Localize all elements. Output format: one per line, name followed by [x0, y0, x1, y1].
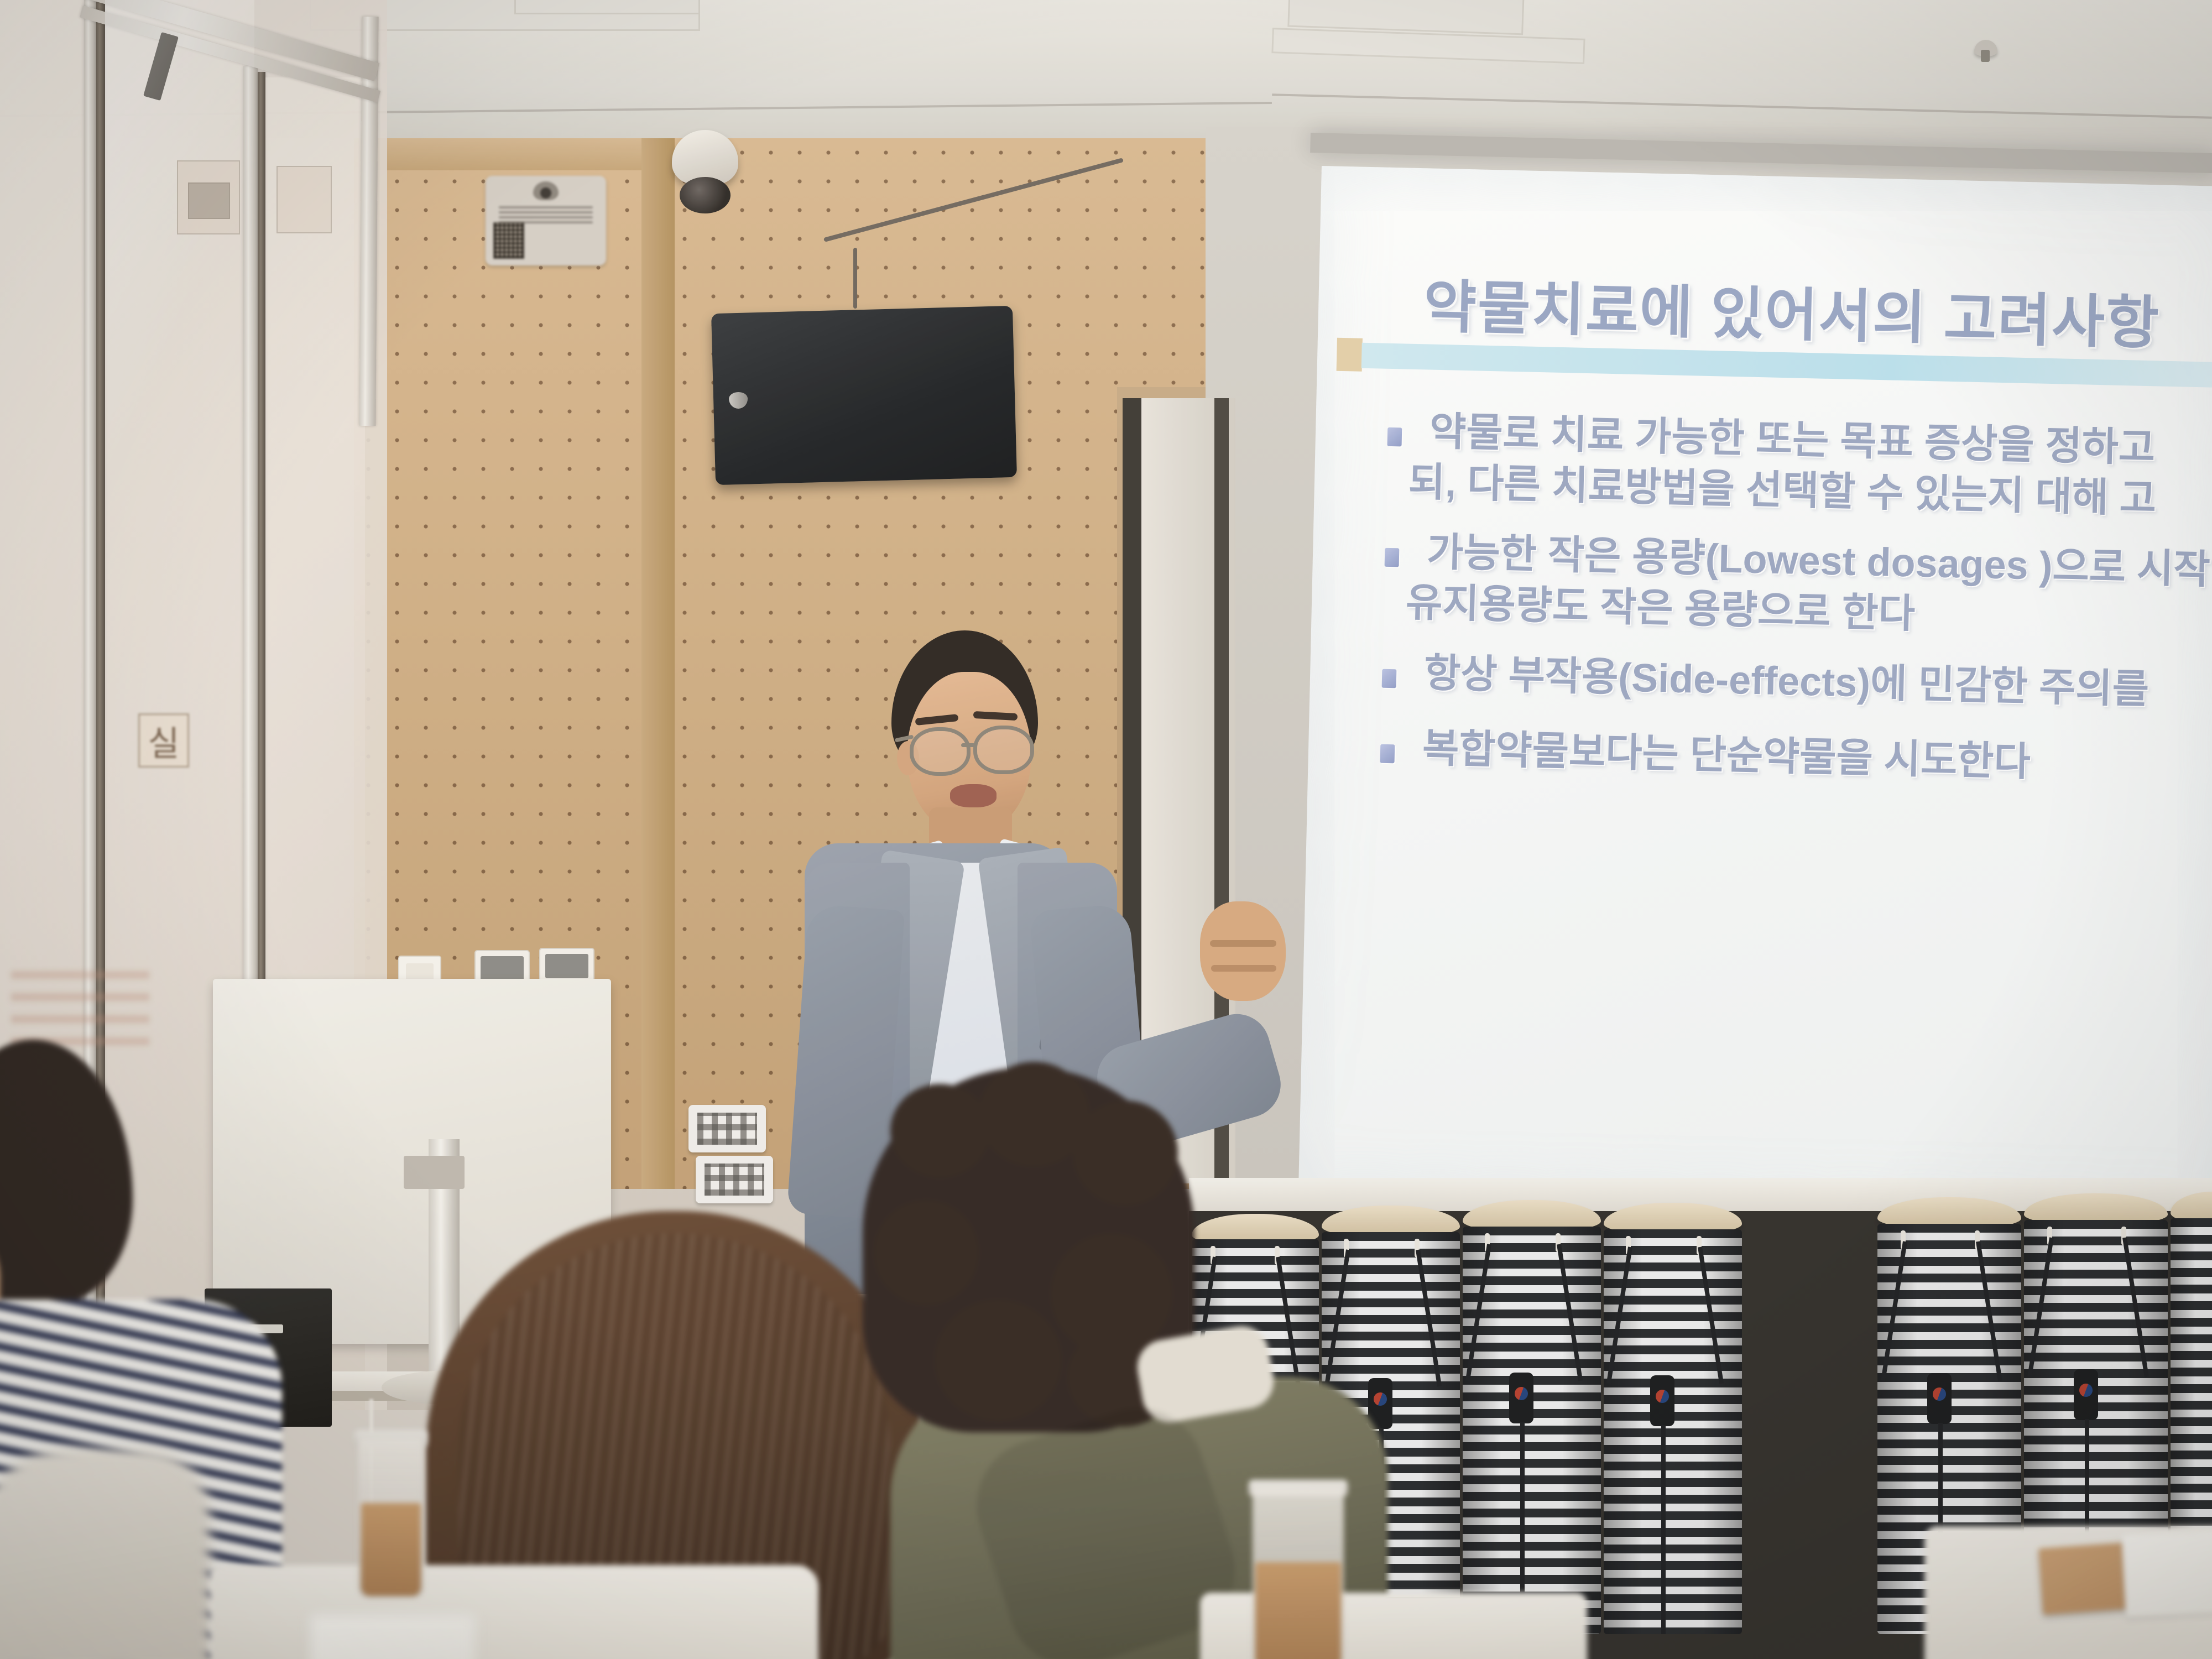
- presenter-right-fist: [1200, 901, 1286, 1001]
- ceiling-panel: [514, 0, 700, 14]
- paper-document: [310, 1615, 476, 1659]
- cup-liquid: [1255, 1562, 1341, 1659]
- basket-vent-holes: [705, 1164, 764, 1196]
- cctv-sign-qr: [493, 222, 524, 259]
- korean-drum: [1463, 1200, 1601, 1634]
- drum-tensioner: [1650, 1375, 1674, 1426]
- front-table: [210, 1565, 818, 1659]
- drum-rope: [1661, 1425, 1666, 1634]
- slide-title: 약물치료에 있어서의 고려사항: [1423, 259, 2161, 359]
- drum-tensioner: [1368, 1378, 1392, 1429]
- bullet-3-line-1: 항상 부작용(Side-effects)에 민감한 주의를: [1381, 646, 2212, 717]
- iced-coffee-cup: [358, 1438, 424, 1598]
- slide-bullet-4: 복합약물보다는 단순약물을 시도한다: [1380, 722, 2212, 792]
- glass-reflection: [105, 0, 254, 498]
- wall-speaker: [711, 306, 1017, 485]
- cctv-notice-sign: [486, 176, 606, 265]
- presenter-glasses-lens: [973, 726, 1034, 774]
- bullet-4-line-1: 복합약물보다는 단순약물을 시도한다: [1380, 722, 2212, 792]
- presenter-mouth: [950, 784, 997, 807]
- monitor-ports: [404, 1156, 465, 1189]
- slide-title-accent-tab: [1337, 338, 1363, 372]
- audience-hair: [0, 1040, 133, 1305]
- presenter-glasses-lens: [910, 727, 971, 776]
- drum-tensioner: [1927, 1373, 1952, 1424]
- paper-document: [2121, 1529, 2212, 1618]
- cctv-camera-lens: [680, 177, 731, 213]
- cup-liquid: [361, 1503, 421, 1596]
- glass-reflection: [11, 957, 149, 1045]
- bullet-marker-icon: [1380, 744, 1395, 763]
- presenter-knuckle-line: [1211, 965, 1276, 972]
- bullet-marker-icon: [1387, 427, 1402, 447]
- slide-bullet-3: 항상 부작용(Side-effects)에 민감한 주의를: [1381, 646, 2212, 717]
- storage-basket: [696, 1156, 773, 1203]
- wood-trim: [641, 138, 675, 1189]
- drum-tensioner: [2074, 1369, 2098, 1420]
- slide-bullet-2: 가능한 작은 용량(Lowest dosages )으로 시작 유지용량도 작은…: [1383, 526, 2212, 648]
- slide-bullet-1: 약물로 치료 가능한 또는 목표 증상을 정하고 되, 다른 치료방법을 선택할…: [1386, 405, 2212, 528]
- bullet-marker-icon: [1382, 669, 1397, 688]
- wood-trim: [354, 138, 669, 170]
- storage-basket: [688, 1105, 766, 1152]
- drum-tensioner: [1509, 1373, 1533, 1423]
- speaker-cable: [853, 248, 857, 309]
- presenter-glasses-bridge: [961, 743, 975, 747]
- basket-vent-holes: [697, 1113, 757, 1145]
- projection-screen: 약물치료에 있어서의 고려사항 약물로 치료 가능한 또는 목표 증상을 정하고…: [1298, 166, 2212, 1220]
- camera-icon: [533, 181, 559, 200]
- door-access-panel: [276, 166, 332, 233]
- korean-drum: [1604, 1203, 1742, 1634]
- audience-shoulder: [0, 1449, 210, 1659]
- lecture-room-photo: 실 약물치료에 있어서의 고려사항 약물로 치료 가능한 또는 목표 증상을 정…: [0, 0, 2212, 1659]
- bullet-marker-icon: [1385, 548, 1400, 567]
- door-keypad: [188, 182, 230, 219]
- presenter-knuckle-line: [1210, 940, 1276, 947]
- audience-member-far-left: [0, 1449, 210, 1659]
- room-sign: 실: [138, 713, 189, 768]
- iced-coffee-cup: [1253, 1488, 1344, 1659]
